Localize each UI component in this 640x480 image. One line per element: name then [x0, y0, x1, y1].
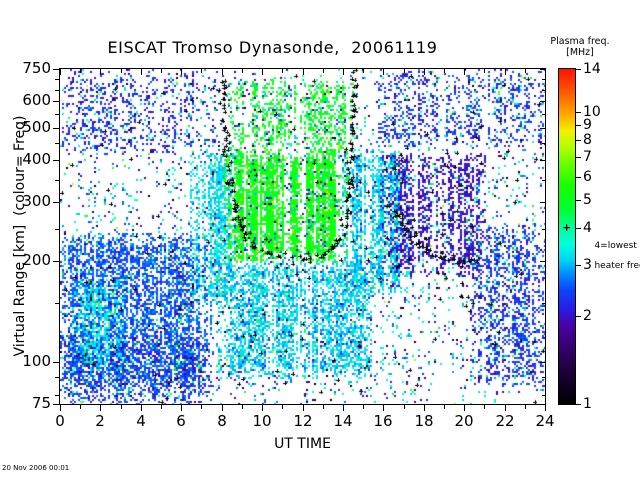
y-axis-tick-label: 200 — [22, 253, 51, 268]
y-axis-minor-tick-right — [542, 303, 546, 304]
colorbar-note: 4=lowest heater freq. — [583, 231, 640, 281]
x-axis-tick-bottom — [262, 405, 263, 411]
y-axis-tick-left — [53, 362, 59, 363]
x-axis-minor-tick-top — [404, 69, 405, 73]
colorbar-tick — [576, 157, 581, 158]
x-axis-tick-label: 4 — [121, 414, 161, 429]
x-axis-minor-tick-bottom — [363, 405, 364, 409]
y-axis-tick-label: 750 — [22, 61, 51, 76]
x-axis-tick-bottom — [545, 405, 546, 411]
x-axis-minor-tick-bottom — [121, 405, 122, 409]
colorbar[interactable] — [558, 68, 576, 405]
x-axis-minor-tick-bottom — [323, 405, 324, 409]
colorbar-tick — [576, 316, 581, 317]
y-axis-minor-tick-right — [542, 143, 546, 144]
y-axis-minor-tick-right — [542, 229, 546, 230]
colorbar-tick — [576, 200, 581, 201]
colorbar-tick — [576, 69, 581, 70]
y-axis-minor-tick-left — [55, 229, 59, 230]
page-title: EISCAT Tromso Dynasonde, 20061119 — [0, 38, 545, 57]
x-axis-minor-tick-top — [121, 69, 122, 73]
y-axis-tick-right — [540, 101, 546, 102]
x-axis-title: UT TIME — [59, 436, 546, 452]
y-axis-minor-tick-left — [55, 303, 59, 304]
colorbar-tick — [576, 265, 581, 266]
x-axis-minor-tick-top — [363, 69, 364, 73]
colorbar-tick — [576, 140, 581, 141]
colorbar-tick-label: 5 — [583, 193, 592, 207]
x-axis-tick-label: 18 — [404, 414, 444, 429]
colorbar-tick-label: 1 — [583, 397, 592, 411]
x-axis-tick-bottom — [505, 405, 506, 411]
x-axis-tick-top — [303, 69, 304, 75]
footer-timestamp: 20 Nov 2006 00:01 — [2, 464, 69, 472]
y-axis-minor-tick-right — [542, 90, 546, 91]
x-axis-minor-tick-bottom — [201, 405, 202, 409]
y-axis-minor-tick-right — [542, 180, 546, 181]
y-axis-tick-label: 300 — [22, 194, 51, 209]
x-axis-tick-top — [545, 69, 546, 75]
colorbar-tick-label: 8 — [583, 133, 592, 147]
x-axis-tick-bottom — [222, 405, 223, 411]
x-axis-tick-top — [222, 69, 223, 75]
x-axis-minor-tick-bottom — [161, 405, 162, 409]
y-axis-minor-tick-left — [55, 143, 59, 144]
colorbar-header: Plasma freq. [MHz] — [520, 36, 640, 58]
x-axis-minor-tick-bottom — [404, 405, 405, 409]
x-axis-minor-tick-top — [484, 69, 485, 73]
colorbar-tick-label: 2 — [583, 309, 592, 323]
x-axis-tick-bottom — [100, 405, 101, 411]
colorbar-tick — [576, 404, 581, 405]
colorbar-tick-label: 6 — [583, 170, 592, 184]
colorbar-tick — [576, 177, 581, 178]
colorbar-tick — [576, 112, 581, 113]
ionogram-scatter-canvas — [60, 69, 545, 404]
y-axis-tick-left — [53, 261, 59, 262]
plot-area[interactable] — [59, 68, 546, 405]
colorbar-gradient — [559, 69, 575, 404]
y-axis-tick-label: 400 — [22, 152, 51, 167]
x-axis-minor-tick-bottom — [484, 405, 485, 409]
x-axis-minor-tick-bottom — [525, 405, 526, 409]
x-axis-tick-label: 20 — [444, 414, 484, 429]
colorbar-tick-label: 9 — [583, 118, 592, 132]
x-axis-minor-tick-bottom — [444, 405, 445, 409]
x-axis-tick-label: 0 — [40, 414, 80, 429]
x-axis-minor-tick-bottom — [242, 405, 243, 409]
x-axis-tick-label: 6 — [161, 414, 201, 429]
y-axis-tick-right — [540, 261, 546, 262]
y-axis-tick-left — [53, 160, 59, 161]
x-axis-tick-bottom — [464, 405, 465, 411]
x-axis-tick-bottom — [141, 405, 142, 411]
y-axis-minor-tick-right — [542, 79, 546, 80]
y-axis-tick-right — [540, 202, 546, 203]
y-axis-minor-tick-right — [542, 377, 546, 378]
y-axis-minor-tick-left — [55, 79, 59, 80]
colorbar-header-line1: Plasma freq. — [550, 36, 609, 47]
y-axis-minor-tick-right — [542, 114, 546, 115]
y-axis-tick-right — [540, 362, 546, 363]
x-axis-tick-top — [343, 69, 344, 75]
x-axis-minor-tick-top — [242, 69, 243, 73]
x-axis-tick-bottom — [424, 405, 425, 411]
colorbar-note-line1: 4=lowest — [594, 241, 636, 251]
x-axis-tick-label: 22 — [485, 414, 525, 429]
x-axis-tick-bottom — [383, 405, 384, 411]
y-axis-minor-tick-left — [55, 395, 59, 396]
x-axis-tick-bottom — [303, 405, 304, 411]
y-axis-tick-label: 75 — [32, 396, 51, 411]
x-axis-tick-top — [464, 69, 465, 75]
x-axis-tick-label: 14 — [323, 414, 363, 429]
y-axis-tick-left — [53, 101, 59, 102]
x-axis-tick-label: 12 — [283, 414, 323, 429]
colorbar-tick-label: 7 — [583, 150, 592, 164]
x-axis-minor-tick-bottom — [80, 405, 81, 409]
x-axis-minor-tick-top — [80, 69, 81, 73]
x-axis-tick-label: 16 — [363, 414, 403, 429]
y-axis-tick-right — [540, 160, 546, 161]
y-axis-tick-left — [53, 69, 59, 70]
x-axis-tick-top — [383, 69, 384, 75]
y-axis-minor-tick-left — [55, 377, 59, 378]
x-axis-tick-top — [60, 69, 61, 75]
x-axis-minor-tick-top — [282, 69, 283, 73]
y-axis-minor-tick-left — [55, 114, 59, 115]
x-axis-tick-label: 24 — [525, 414, 565, 429]
colorbar-tick-label: 10 — [583, 105, 601, 119]
x-axis-tick-top — [262, 69, 263, 75]
y-axis-tick-left — [53, 202, 59, 203]
colorbar-header-line2: [MHz] — [520, 47, 640, 58]
colorbar-tick-label: 14 — [583, 62, 601, 76]
x-axis-tick-bottom — [181, 405, 182, 411]
x-axis-tick-top — [424, 69, 425, 75]
colorbar-note-line2: heater freq. — [594, 261, 640, 271]
y-axis-minor-tick-left — [55, 180, 59, 181]
heater-freq-marker-icon: + — [562, 222, 571, 233]
x-axis-tick-label: 8 — [202, 414, 242, 429]
colorbar-tick-label: 3 — [583, 258, 592, 272]
x-axis-minor-tick-top — [161, 69, 162, 73]
y-axis-tick-left — [53, 128, 59, 129]
y-axis-tick-label: 500 — [22, 120, 51, 135]
x-axis-tick-bottom — [60, 405, 61, 411]
y-axis-minor-tick-right — [542, 395, 546, 396]
colorbar-tick-label: 4 — [583, 221, 592, 235]
x-axis-tick-top — [181, 69, 182, 75]
y-axis-minor-tick-left — [55, 90, 59, 91]
y-axis-tick-left — [53, 404, 59, 405]
x-axis-minor-tick-top — [444, 69, 445, 73]
x-axis-minor-tick-top — [201, 69, 202, 73]
x-axis-tick-top — [141, 69, 142, 75]
dynasonde-plot-page: EISCAT Tromso Dynasonde, 20061119 Plasma… — [0, 0, 640, 480]
y-axis-tick-label: 100 — [22, 354, 51, 369]
x-axis-tick-label: 10 — [242, 414, 282, 429]
colorbar-tick — [576, 228, 581, 229]
x-axis-tick-top — [505, 69, 506, 75]
x-axis-tick-bottom — [343, 405, 344, 411]
x-axis-tick-label: 2 — [80, 414, 120, 429]
x-axis-minor-tick-top — [525, 69, 526, 73]
x-axis-minor-tick-top — [323, 69, 324, 73]
x-axis-minor-tick-bottom — [282, 405, 283, 409]
y-axis-tick-right — [540, 128, 546, 129]
y-axis-tick-label: 600 — [22, 93, 51, 108]
x-axis-tick-top — [100, 69, 101, 75]
colorbar-tick — [576, 125, 581, 126]
